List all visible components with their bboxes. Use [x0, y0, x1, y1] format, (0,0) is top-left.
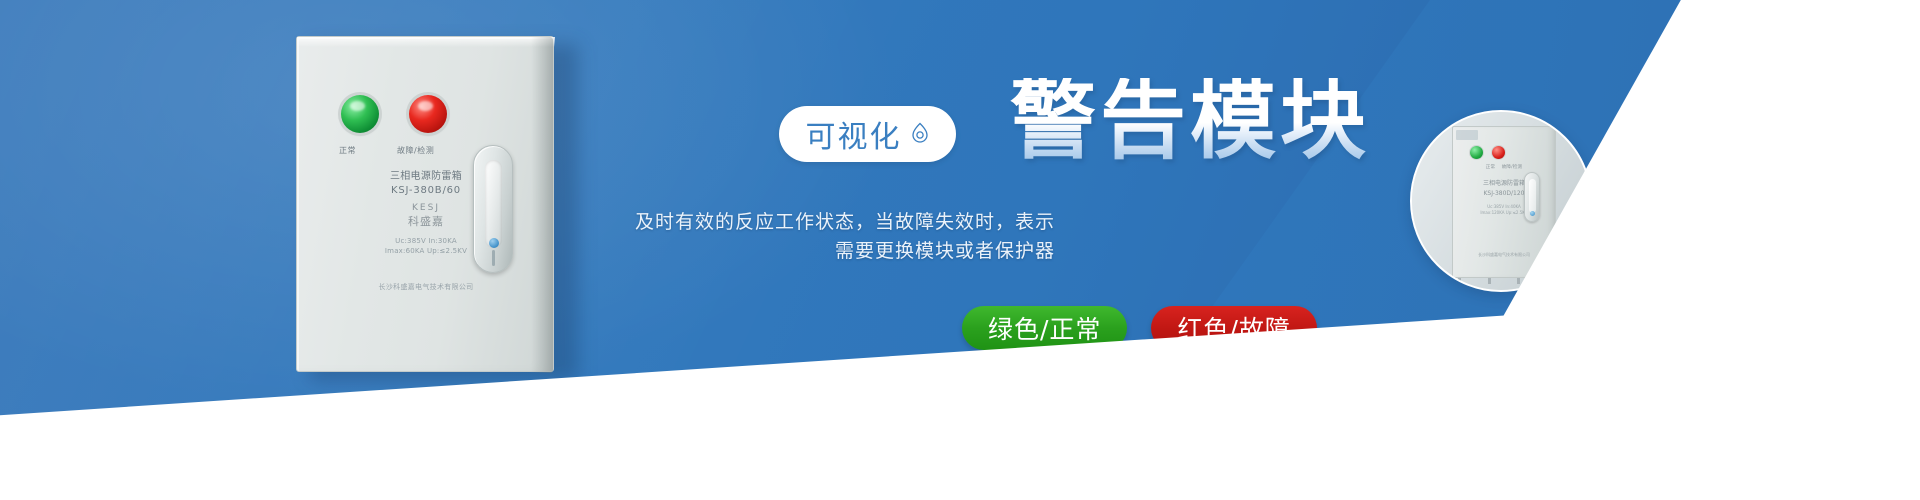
inset-indicator-lamp-red: [1492, 146, 1505, 159]
lamp-gloss: [418, 101, 433, 111]
badge-visualization: 可视化: [779, 106, 956, 162]
cabinet-spec-line2: Imax:60KA Up:≤2.5KV: [297, 247, 555, 255]
badge-visualization-label: 可视化: [806, 112, 902, 156]
inset-door-handle: [1524, 172, 1540, 222]
lamp-label-normal: 正常: [339, 145, 356, 156]
subtitle-line-1: 及时有效的反应工作状态，当故障失效时，表示: [635, 208, 1055, 237]
cabinet-brand-cn: 科盛嘉: [297, 213, 555, 229]
inset-lamp-label-fault: 故障/检测: [1502, 165, 1523, 170]
product-photo: 正常 故障/检测 三相电源防雷箱 KSJ-380B/60 KESJ 科盛嘉 Uc…: [296, 36, 560, 372]
handle-slot: [485, 160, 502, 248]
inset-indicator-lamp-green: [1470, 146, 1483, 159]
lamp-label-fault: 故障/检测: [397, 145, 434, 156]
inset-brand-tag: [1456, 130, 1478, 140]
cabinet-company-name: 长沙科盛嘉电气技术有限公司: [297, 282, 555, 292]
handle-keyhole: [492, 250, 495, 266]
handle-lock-dot: [489, 238, 499, 248]
cabinet-brand-en: KESJ: [297, 203, 555, 213]
promo-banner: 正常 故障/检测 三相电源防雷箱 KSJ-380B/60 KESJ 科盛嘉 Uc…: [0, 0, 1920, 500]
page-title: 警告模块: [1010, 78, 1370, 164]
cabinet-top-highlight: [297, 37, 555, 47]
indicator-lamp-green: [341, 95, 379, 133]
inset-lamp-labels: 正常 故障/检测: [1452, 164, 1556, 170]
cabinet-body: 正常 故障/检测 三相电源防雷箱 KSJ-380B/60 KESJ 科盛嘉 Uc…: [296, 36, 554, 372]
cabinet-model-title: 三相电源防雷箱: [297, 167, 555, 182]
subtitle-line-2: 需要更换模块或者保护器: [635, 237, 1055, 266]
inset-lamp-label-normal: 正常: [1486, 165, 1495, 170]
cabinet-model-code: KSJ-380B/60: [297, 185, 555, 196]
inset-handle-lock-dot: [1530, 211, 1535, 216]
banner-subtitle: 及时有效的反应工作状态，当故障失效时，表示 需要更换模块或者保护器: [635, 208, 1055, 267]
location-pin-icon: [910, 122, 930, 146]
inset-spec: Uc:385V In:40KA Imax:120KA Up:≤2.5KV: [1452, 204, 1556, 216]
lamp-gloss: [350, 101, 365, 111]
indicator-lamp-red: [409, 95, 447, 133]
cabinet-spec-line1: Uc:385V In:30KA: [297, 237, 555, 245]
inset-model-code: KSJ-380D/120: [1452, 190, 1556, 197]
inset-model-title: 三相电源防雷箱: [1452, 178, 1556, 187]
inset-handle-slot: [1529, 179, 1536, 213]
status-badge-normal-label: 绿色/正常: [988, 310, 1101, 346]
cabinet-door-handle: [473, 145, 513, 273]
inset-spec-line2: Imax:120KA Up:≤2.5KV: [1452, 210, 1556, 216]
